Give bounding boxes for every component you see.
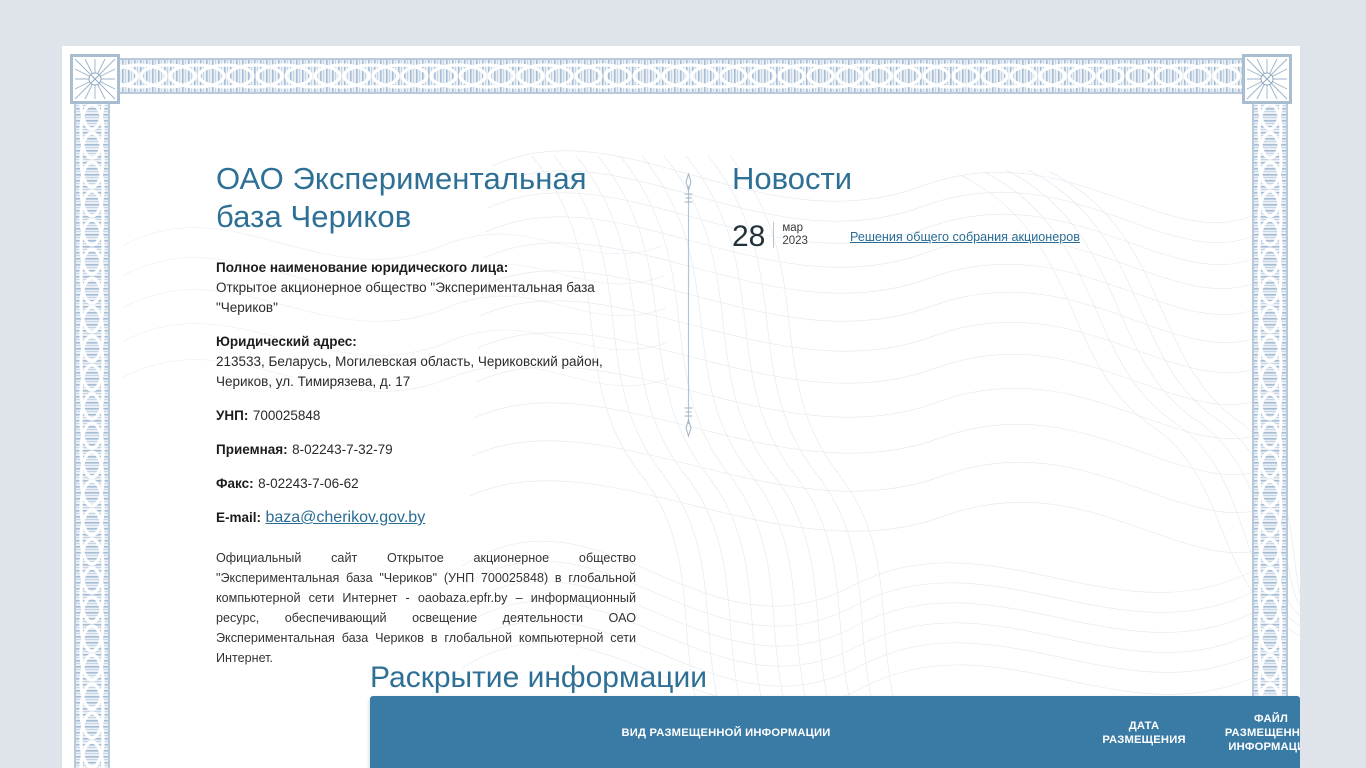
news-month-year: мар 2023 [773, 222, 808, 248]
info-field-email: E-mail: baza@cherikov.gov.by [216, 508, 636, 528]
info-label: Полное наименование юридического лица: [216, 260, 508, 275]
info-value: Открытое акционерное общество "Экспериме… [216, 278, 636, 318]
rosette-ornament-icon-top-right [1242, 54, 1292, 104]
news-date: 28 мар 2023 [732, 220, 808, 252]
info-label: E-mail: [216, 510, 261, 525]
info-label: Факс: [216, 476, 254, 491]
news-list-item: 28 мар 2023 Решения общего собрания акци… [732, 220, 1162, 252]
left-border-ornament [72, 102, 112, 768]
news-month: мар [782, 222, 808, 235]
info-value: 8-02243-7-32-79 [292, 442, 393, 457]
info-value: 700025848 [253, 408, 321, 423]
news-column: Новости 28 мар 2023 Решения общего собра… [732, 160, 1162, 252]
info-field-legal-address: Юридический адрес: 213533, Беларусь, Мог… [216, 332, 636, 392]
email-link[interactable]: baza@cherikov.gov.by [265, 509, 425, 526]
page-root: ОАО Экспериментальная база Чериков Полно… [0, 0, 1366, 768]
column-header-date[interactable]: ДАТА РАЗМЕЩЕНИЯ [1082, 696, 1206, 768]
company-info-column: ОАО Экспериментальная база Чериков Полно… [216, 160, 636, 681]
page-title: ОАО Экспериментальная база Чериков [216, 160, 636, 236]
table-header-row: ВИД РАЗМЕЩЕННОЙ ИНФОРМАЦИИ ДАТА РАЗМЕЩЕН… [370, 696, 1300, 768]
news-heading: Новости [732, 160, 1162, 198]
info-label: УНП: [216, 408, 248, 423]
column-header-kind[interactable]: ВИД РАЗМЕЩЕННОЙ ИНФОРМАЦИИ [370, 696, 1082, 768]
info-field-full-name: Полное наименование юридического лица: О… [216, 258, 636, 318]
certificate-sheet: ОАО Экспериментальная база Чериков Полно… [62, 46, 1300, 768]
info-field-fax: Факс: 8-02243-7-06-62 [216, 474, 636, 494]
info-field-reception-phone: Приемная: 8-02243-7-32-79 [216, 440, 636, 460]
disclosure-table-wrapper: ВИД РАЗМЕЩЕННОЙ ИНФОРМАЦИИ ДАТА РАЗМЕЩЕН… [370, 696, 1300, 768]
news-day: 28 [732, 222, 773, 252]
rosette-ornament-icon-top-left [70, 54, 120, 104]
right-border-ornament [1250, 102, 1290, 768]
info-label: Юридический адрес: [216, 334, 357, 349]
disclosure-table: ВИД РАЗМЕЩЕННОЙ ИНФОРМАЦИИ ДАТА РАЗМЕЩЕН… [370, 696, 1300, 768]
info-field-unp: УНП: 700025848 [216, 406, 636, 426]
about-paragraph: Официальный сайт Открытое акционерное об… [216, 548, 636, 668]
info-value: 213533, Беларусь, Могилевская область, Ч… [216, 352, 636, 392]
news-link[interactable]: Решения общего собрания акционеров [850, 230, 1080, 244]
column-header-file[interactable]: ФАЙЛ РАЗМЕЩЕННОЙ ИНФОРМАЦИИ [1206, 696, 1300, 768]
main-content: ОАО Экспериментальная база Чериков Полно… [216, 46, 1244, 768]
news-year: 2023 [782, 235, 808, 248]
news-link-wrapper: Решения общего собрания акционеров [850, 220, 1080, 246]
info-value: 8-02243-7-06-62 [258, 476, 359, 491]
disclosure-table-head: ВИД РАЗМЕЩЕННОЙ ИНФОРМАЦИИ ДАТА РАЗМЕЩЕН… [370, 696, 1300, 768]
disclosure-heading: Раскрытие информации [370, 660, 1188, 696]
ornamental-divider-icon [684, 172, 693, 438]
info-label: Приемная: [216, 442, 288, 457]
disclosure-section: Раскрытие информации ВИД РАЗМЕЩЕННОЙ ИНФ… [370, 660, 1188, 768]
